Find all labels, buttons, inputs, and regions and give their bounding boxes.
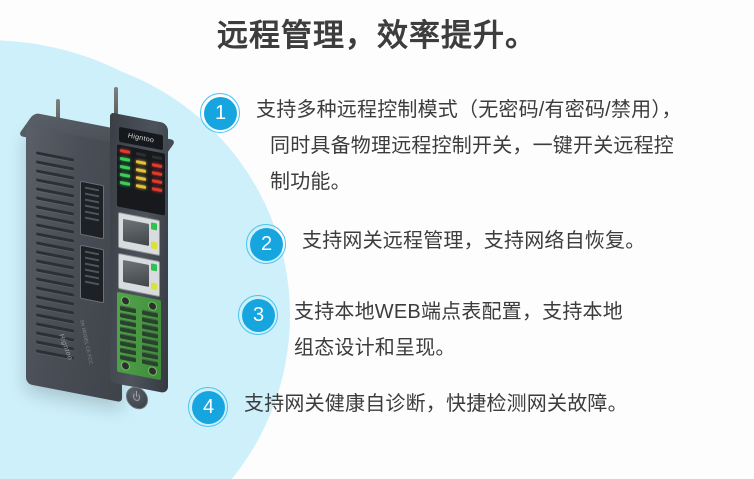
feature-item-1: 1 支持多种远程控制模式（无密码/有密码/禁用）， 同时具备物理远程控制开关，一… xyxy=(200,92,740,200)
feature-item-3: 3 支持本地WEB端点表配置，支持本地 组态设计和呈现。 xyxy=(238,294,738,366)
feature-item-4: 4 支持网关健康自诊断，快捷检测网关故障。 xyxy=(188,386,728,429)
feature-text-3: 支持本地WEB端点表配置，支持本地 组态设计和呈现。 xyxy=(294,294,623,366)
feature-text-4: 支持网关健康自诊断，快捷检测网关故障。 xyxy=(244,386,628,422)
feature-text-2: 支持网关远程管理，支持网络自恢复。 xyxy=(302,223,645,259)
feature-badge-2: 2 xyxy=(246,224,288,266)
banner-stage: 远程管理，效率提升。 xyxy=(0,0,754,479)
feature-number-2: 2 xyxy=(250,228,283,261)
feature-badge-4: 4 xyxy=(188,387,230,429)
feature-number-1: 1 xyxy=(204,97,237,130)
feature-list: 1 支持多种远程控制模式（无密码/有密码/禁用）， 同时具备物理远程控制开关，一… xyxy=(0,0,754,479)
feature-text-3-line-2: 组态设计和呈现。 xyxy=(294,330,623,366)
feature-text-1-line-3: 制功能。 xyxy=(256,164,682,200)
feature-number-4: 4 xyxy=(192,391,225,424)
feature-text-4-line-1: 支持网关健康自诊断，快捷检测网关故障。 xyxy=(244,393,628,415)
feature-item-2: 2 支持网关远程管理，支持网络自恢复。 xyxy=(246,223,746,266)
feature-text-1-line-1: 支持多种远程控制模式（无密码/有密码/禁用）， xyxy=(256,99,682,121)
feature-badge-3: 3 xyxy=(238,295,280,337)
feature-text-1-line-2: 同时具备物理远程控制开关，一键开关远程控 xyxy=(256,128,682,164)
feature-text-1: 支持多种远程控制模式（无密码/有密码/禁用）， 同时具备物理远程控制开关，一键开… xyxy=(256,92,682,200)
feature-text-2-line-1: 支持网关远程管理，支持网络自恢复。 xyxy=(302,230,645,252)
feature-badge-1: 1 xyxy=(200,93,242,135)
feature-text-3-line-1: 支持本地WEB端点表配置，支持本地 xyxy=(294,301,623,323)
feature-number-3: 3 xyxy=(242,299,275,332)
